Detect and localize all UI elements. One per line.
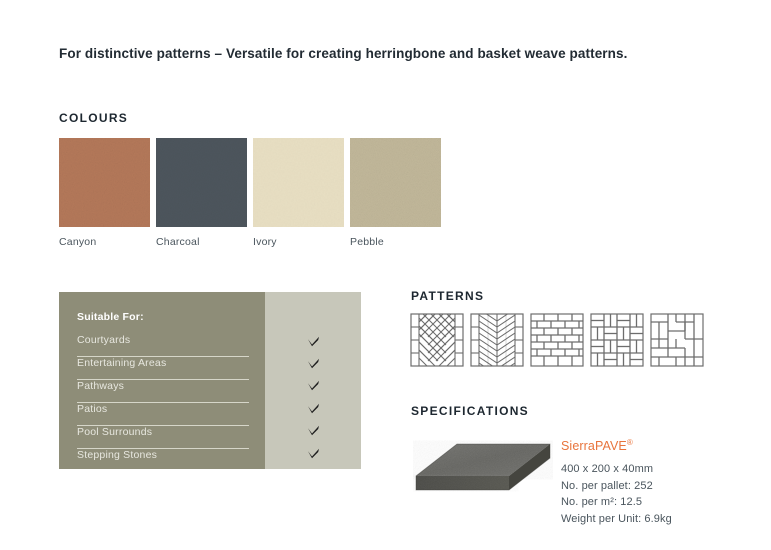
colour-swatch-ivory[interactable]: Ivory — [253, 138, 344, 248]
intro-text: For distinctive patterns – Versatile for… — [59, 46, 719, 61]
pattern-vertical-herringbone-icon[interactable] — [470, 313, 524, 367]
swatch-chip — [59, 138, 150, 227]
texture-grain — [350, 138, 441, 227]
registered-mark: ® — [627, 438, 633, 447]
list-item: Courtyards — [77, 334, 249, 357]
texture-grain — [59, 138, 150, 227]
swatch-label: Charcoal — [156, 236, 247, 248]
suitable-for-list: Suitable For: Courtyards Entertaining Ar… — [59, 292, 265, 469]
spec-dimensions: 400 x 200 x 40mm — [561, 461, 761, 478]
list-item: Pathways — [77, 380, 249, 403]
colour-swatch-canyon[interactable]: Canyon — [59, 138, 150, 248]
patterns-heading: PATTERNS — [411, 289, 484, 303]
colour-swatch-list: Canyon Charcoal Ivory — [59, 138, 441, 248]
colour-swatch-charcoal[interactable]: Charcoal — [156, 138, 247, 248]
check-icon — [307, 375, 320, 397]
paver-product-image — [413, 440, 553, 502]
specifications-heading: SPECIFICATIONS — [411, 404, 529, 418]
check-icon — [307, 330, 320, 352]
texture-grain — [156, 138, 247, 227]
spec-per-pallet: No. per pallet: 252 — [561, 478, 761, 495]
list-item: Pool Surrounds — [77, 426, 249, 449]
pattern-diagonal-herringbone-icon[interactable] — [410, 313, 464, 367]
product-name-text: SierraPAVE — [561, 439, 627, 453]
spec-per-m2: No. per m²: 12.5 — [561, 494, 761, 511]
pattern-running-bond-icon[interactable] — [530, 313, 584, 367]
list-item: Stepping Stones — [77, 449, 249, 471]
suitable-for-panel: Suitable For: Courtyards Entertaining Ar… — [59, 292, 361, 469]
pattern-list — [410, 313, 704, 367]
list-item: Patios — [77, 403, 249, 426]
check-icon — [307, 397, 320, 419]
swatch-chip — [156, 138, 247, 227]
swatch-label: Pebble — [350, 236, 441, 248]
list-item: Entertaining Areas — [77, 357, 249, 380]
pattern-basket-weave-icon[interactable] — [590, 313, 644, 367]
texture-grain — [253, 138, 344, 227]
swatch-label: Ivory — [253, 236, 344, 248]
colour-swatch-pebble[interactable]: Pebble — [350, 138, 441, 248]
check-icon — [307, 442, 320, 464]
swatch-chip — [253, 138, 344, 227]
check-icon — [307, 352, 320, 374]
specifications-text: SierraPAVE® 400 x 200 x 40mm No. per pal… — [561, 438, 761, 527]
swatch-label: Canyon — [59, 236, 150, 248]
swatch-chip — [350, 138, 441, 227]
check-icon — [307, 420, 320, 442]
product-spec-page: For distinctive patterns – Versatile for… — [0, 0, 771, 550]
suitable-for-title: Suitable For: — [77, 311, 249, 323]
spec-weight: Weight per Unit: 6.9kg — [561, 511, 761, 528]
pattern-pinwheel-basket-weave-icon[interactable] — [650, 313, 704, 367]
suitable-for-checks — [265, 292, 361, 469]
colours-heading: COLOURS — [59, 111, 128, 125]
product-name: SierraPAVE® — [561, 438, 761, 453]
